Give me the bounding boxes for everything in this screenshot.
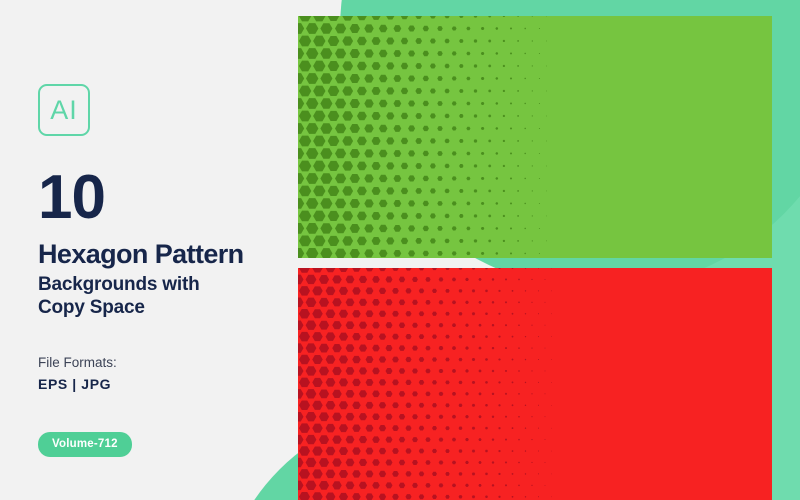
green-hexagon-pattern [298, 16, 772, 258]
product-info-column: AI 10 Hexagon Pattern Backgrounds with C… [38, 84, 288, 457]
preview-canvas: AI 10 Hexagon Pattern Backgrounds with C… [0, 0, 800, 500]
adobe-illustrator-badge-icon: AI [38, 84, 90, 136]
red-hexagon-pattern [298, 268, 772, 500]
volume-badge: Volume-712 [38, 432, 132, 457]
file-formats-values: EPS | JPG [38, 376, 288, 392]
red-hexagon-panel [298, 268, 772, 500]
item-count: 10 [38, 170, 288, 226]
file-formats-label: File Formats: [38, 353, 288, 373]
ai-badge-label: AI [50, 97, 78, 124]
page-subtitle: Backgrounds with Copy Space [38, 273, 288, 319]
file-formats-block: File Formats: EPS | JPG [38, 353, 288, 391]
green-hexagon-panel [298, 16, 772, 258]
page-title: Hexagon Pattern [38, 240, 288, 269]
